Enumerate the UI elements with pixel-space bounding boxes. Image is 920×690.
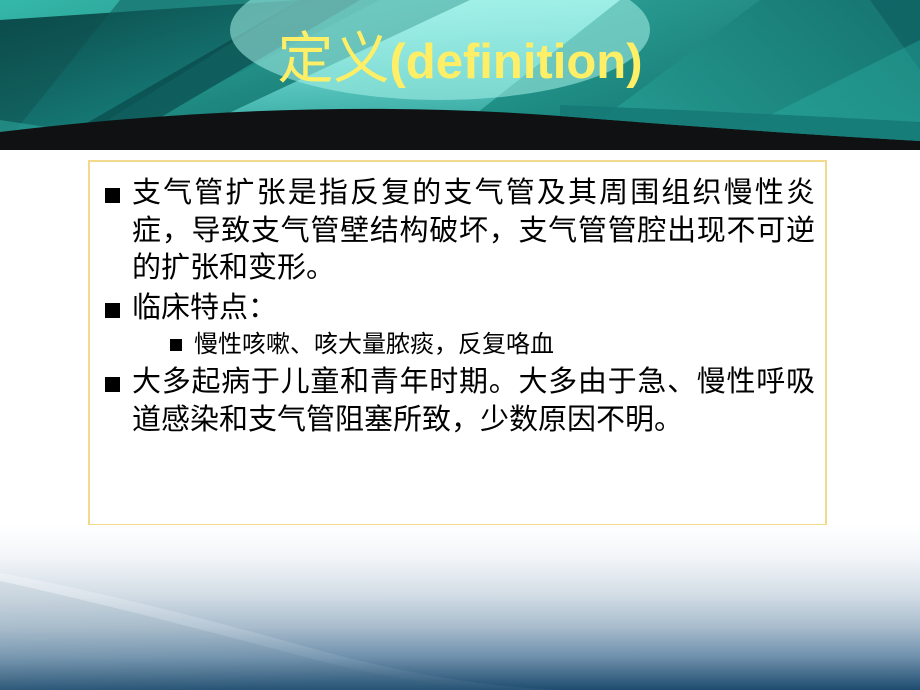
slide-header-banner: 定义(definition) <box>0 0 920 150</box>
sub-bullet-list: 慢性咳嗽、咳大量脓痰，反复咯血 <box>132 329 815 360</box>
footer-graphic <box>0 525 920 690</box>
bullet-text: 临床特点： <box>132 290 277 324</box>
sub-bullet-item: 慢性咳嗽、咳大量脓痰，反复咯血 <box>168 329 815 360</box>
presentation-slide: 定义(definition) 支气管扩张是指反复的支气管及其周围组织慢性炎症，导… <box>0 0 920 690</box>
content-text-box: 支气管扩张是指反复的支气管及其周围组织慢性炎症，导致支气管壁结构破坏，支气管管腔… <box>88 160 827 526</box>
bullet-text: 支气管扩张是指反复的支气管及其周围组织慢性炎症，导致支气管壁结构破坏，支气管管腔… <box>132 175 815 284</box>
bullet-list: 支气管扩张是指反复的支气管及其周围组织慢性炎症，导致支气管壁结构破坏，支气管管腔… <box>102 174 815 439</box>
bullet-text: 大多起病于儿童和青年时期。大多由于急、慢性呼吸道感染和支气管阻塞所致，少数原因不… <box>132 364 815 436</box>
slide-footer-band <box>0 525 920 690</box>
sub-bullet-text: 慢性咳嗽、咳大量脓痰，反复咯血 <box>194 330 554 358</box>
banner-graphic <box>0 0 920 150</box>
bullet-item: 临床特点： 慢性咳嗽、咳大量脓痰，反复咯血 <box>102 289 815 359</box>
bullet-item: 大多起病于儿童和青年时期。大多由于急、慢性呼吸道感染和支气管阻塞所致，少数原因不… <box>102 363 815 438</box>
bullet-item: 支气管扩张是指反复的支气管及其周围组织慢性炎症，导致支气管壁结构破坏，支气管管腔… <box>102 174 815 287</box>
